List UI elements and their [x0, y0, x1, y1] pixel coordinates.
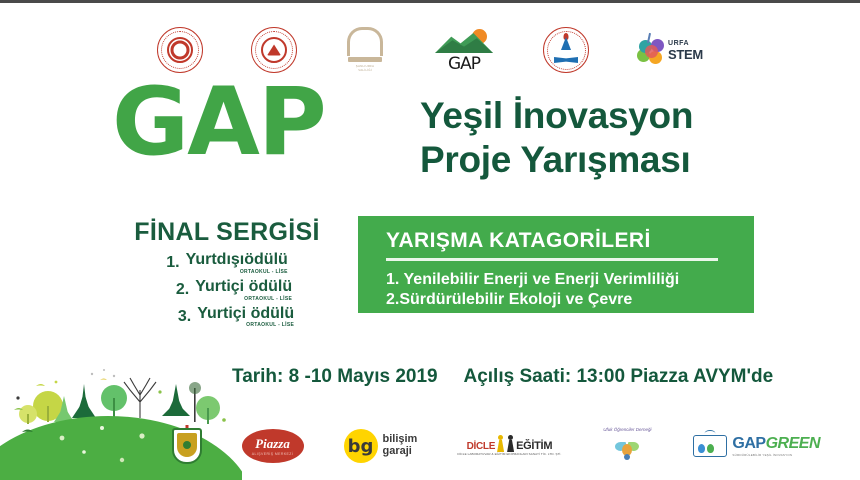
title-line-1: Yeşil İnovasyon: [420, 94, 840, 138]
gap-logo-word: GAP: [433, 54, 495, 74]
list-item: 1. Yenilebilir Enerji ve Enerji Verimlil…: [386, 270, 754, 290]
piazza-sub: ALIŞVERİŞ MERKEZİ: [252, 452, 293, 456]
gapgreen-logo-icon: GAPGREEN SÜRDÜRÜLEBİLİR YEŞİL İNOVASYON: [693, 435, 820, 457]
gapgreen-caption: SÜRDÜRÜLEBİLİR YEŞİL İNOVASYON: [732, 454, 820, 457]
dicle-caption: DİCLE LABORATUVAR & EĞİTİM EKİPMANLARI S…: [457, 453, 561, 457]
award-number: 1.: [166, 252, 179, 272]
dicle-word-right: EĞİTİM: [516, 440, 552, 452]
award-label: Yurtdışıödülü: [186, 252, 288, 269]
event-details-line: Tarih: 8 -10 Mayıs 2019 Açılış Saati: 13…: [232, 366, 773, 388]
title-line-2: Proje Yarışması: [420, 138, 840, 182]
final-exhibition-block: FİNAL SERGİSİ 1. Yurtdışıödülü ORTAOKUL …: [112, 218, 342, 328]
harran-monument-icon: ŞANLIURFA VALİLİĞİ: [345, 27, 385, 73]
ufuk-ogrenciler-dernegi-logo-icon: Ufuk Öğrenciler Derneği: [601, 427, 653, 465]
urfa-stem-icon: URFA STEM: [637, 36, 703, 64]
time-label: Açılış Saati:: [463, 366, 571, 387]
bilisim-garaji-mark: bg: [344, 429, 378, 463]
gap-mountain-icon: GAP: [433, 27, 495, 73]
gapgreen-word-a: GAP: [732, 435, 765, 452]
final-exhibition-title: FİNAL SERGİSİ: [112, 218, 342, 247]
categories-divider: [386, 258, 718, 261]
list-item: 3. Yurtiçi ödülü ORTAOKUL - LİSE: [112, 306, 342, 329]
categories-list: 1. Yenilebilir Enerji ve Enerji Verimlil…: [386, 270, 754, 311]
date-value: 8 -10 Mayıs 2019: [289, 366, 438, 387]
award-label: Yurtiçi ödülü: [195, 279, 292, 296]
categories-title: YARIŞMA KATAGORİLERİ: [386, 229, 754, 253]
urfa-stem-word-bottom: STEM: [668, 48, 703, 61]
list-item: 2. Yurtiçi ödülü ORTAOKUL - LİSE: [112, 279, 342, 302]
award-sublabel: ORTAOKUL - LİSE: [240, 269, 288, 275]
award-list: 1. Yurtdışıödülü ORTAOKUL - LİSE 2. Yurt…: [112, 252, 342, 328]
list-item: 1. Yurtdışıödülü ORTAOKUL - LİSE: [112, 252, 342, 275]
page-title: Yeşil İnovasyon Proje Yarışması: [420, 94, 840, 181]
sponsor-logo-row: Piazza ALIŞVERİŞ MERKEZİ bg bilişim gara…: [0, 420, 860, 472]
time-value: 13:00 Piazza AVYM'de: [576, 366, 773, 387]
list-item: 2.Sürdürülebilir Ekoloji ve Çevre: [386, 290, 754, 310]
meb-seal-2-icon: [251, 27, 297, 73]
award-number: 2.: [176, 279, 189, 299]
award-sublabel: ORTAOKUL - LİSE: [246, 322, 294, 328]
bilisim-garaji-line2: garaji: [383, 446, 418, 458]
dicle-egitim-logo-icon: DİCLE EĞİTİM DİCLE LABORATUVAR & EĞİTİM …: [457, 435, 561, 457]
municipality-crest-icon: [172, 428, 202, 464]
urfa-stem-word-top: URFA: [668, 40, 703, 47]
gapgreen-word-b: GREEN: [766, 435, 820, 452]
award-label: Yurtiçi ödülü: [197, 306, 294, 323]
il-milli-egitim-emblem-icon: [543, 27, 589, 73]
piazza-logo-icon: Piazza ALIŞVERİŞ MERKEZİ: [242, 429, 304, 463]
meb-seal-1-icon: [157, 27, 203, 73]
competition-categories-box: YARIŞMA KATAGORİLERİ 1. Yenilebilir Ener…: [358, 216, 754, 313]
gap-brand-wordmark: GAP: [112, 76, 325, 170]
piazza-word: Piazza: [255, 437, 290, 450]
bilisim-garaji-logo-icon: bg bilişim garaji: [344, 429, 418, 463]
award-sublabel: ORTAOKUL - LİSE: [244, 296, 292, 302]
top-border-strip: [0, 0, 860, 3]
poster-canvas: ŞANLIURFA VALİLİĞİ GAP: [0, 0, 860, 480]
award-number: 3.: [178, 306, 191, 326]
monument-caption-line2: VALİLİĞİ: [358, 68, 372, 72]
dicle-word-left: DİCLE: [467, 441, 496, 452]
